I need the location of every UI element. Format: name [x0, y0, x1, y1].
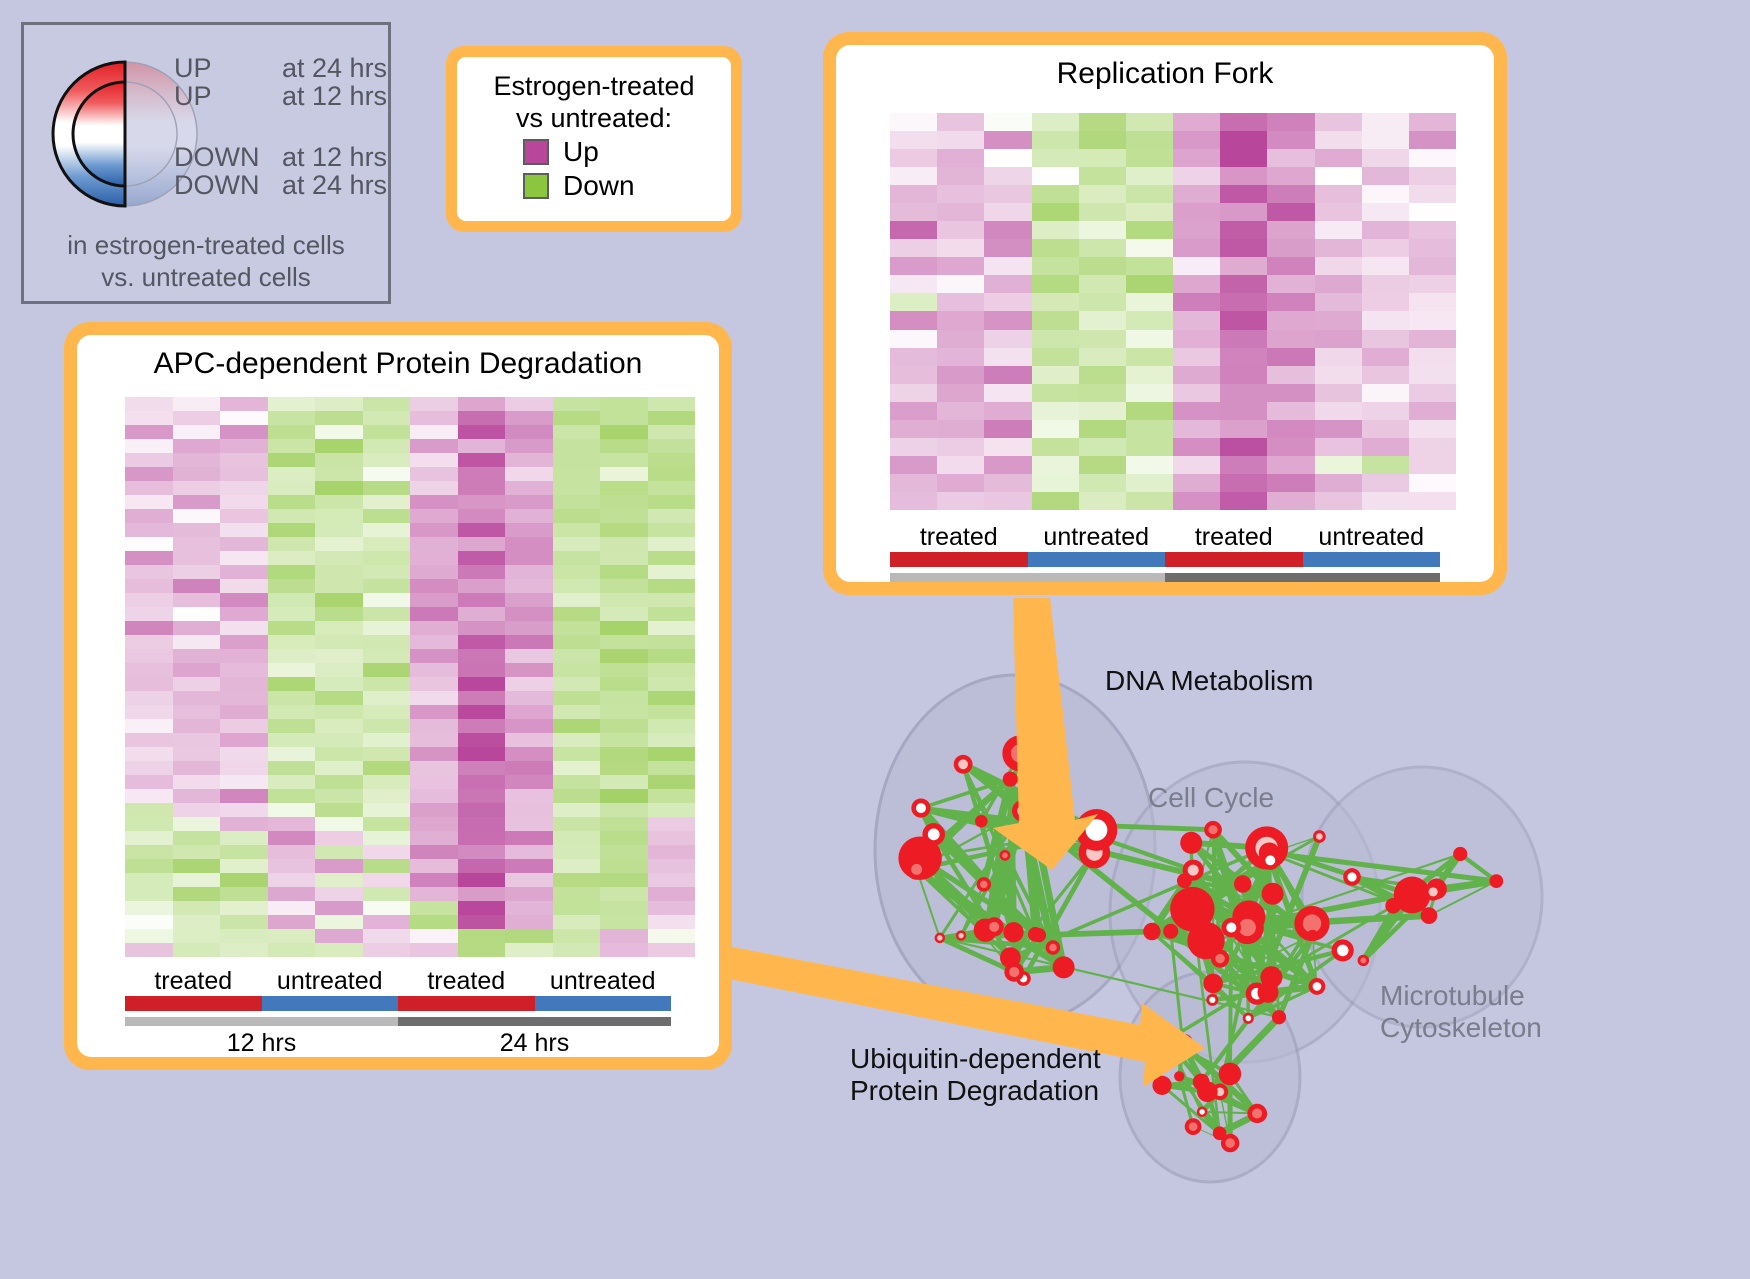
network-node[interactable]	[1185, 1118, 1202, 1135]
heatmap-cell	[173, 481, 221, 495]
heatmap-cell	[315, 411, 363, 425]
network-node[interactable]	[1332, 939, 1354, 961]
heatmap-cell	[505, 691, 553, 705]
heatmap-cell	[458, 705, 506, 719]
heatmap-cell	[363, 831, 411, 845]
heatmap-cell	[125, 607, 173, 621]
heatmap-cell	[600, 607, 648, 621]
heatmap-cell	[1173, 185, 1220, 203]
heatmap-cell	[1126, 348, 1173, 366]
heatmap-cell	[1267, 257, 1314, 275]
heatmap-cell	[410, 663, 458, 677]
heatmap-cell	[648, 859, 696, 873]
heatmap-cell	[1079, 239, 1126, 257]
heatmap-cell	[1032, 293, 1079, 311]
heatmap-cell	[600, 579, 648, 593]
heatmap-cell	[315, 761, 363, 775]
heatmap-cell	[220, 817, 268, 831]
heatmap-cell	[1173, 167, 1220, 185]
heatmap-cell	[600, 901, 648, 915]
heatmap-cell	[553, 607, 601, 621]
heatmap-cell	[648, 803, 696, 817]
heatmap-cell	[553, 649, 601, 663]
heatmap-cell	[268, 677, 316, 691]
figure-canvas: UP at 24 hrs UP at 12 hrs DOWN at 12 hrs…	[0, 0, 1750, 1279]
network-node[interactable]	[1309, 978, 1326, 995]
heatmap-cell	[268, 481, 316, 495]
network-node[interactable]	[1076, 809, 1118, 851]
heatmap-cell	[268, 691, 316, 705]
heatmap-cell	[1032, 275, 1079, 293]
network-node[interactable]	[1489, 874, 1503, 888]
heatmap-cell	[984, 330, 1031, 348]
heatmap-cell	[410, 943, 458, 957]
heatmap-cell	[1315, 348, 1362, 366]
timepoint-bar-12hrs	[125, 1017, 398, 1026]
heatmap-cell	[458, 439, 506, 453]
heatmap-cell	[125, 397, 173, 411]
heatmap-cell	[937, 167, 984, 185]
heatmap-cell	[1173, 474, 1220, 492]
heatmap-cell	[410, 873, 458, 887]
heatmap-cell	[363, 565, 411, 579]
heatmap-cell	[553, 789, 601, 803]
heatmap-cell	[1409, 149, 1456, 167]
heatmap-cell	[1362, 420, 1409, 438]
heatmap-cell	[1032, 492, 1079, 510]
heatmap-cell	[553, 929, 601, 943]
heatmap-cell	[220, 873, 268, 887]
heatmap-cell	[173, 901, 221, 915]
heatmap-cell	[505, 551, 553, 565]
heatmap-cell	[125, 621, 173, 635]
condition-label: untreated	[1303, 523, 1441, 552]
network-node[interactable]	[1003, 772, 1018, 787]
heatmap-cell	[268, 873, 316, 887]
up-down-legend-title: Estrogen-treated vs untreated:	[467, 71, 721, 134]
heatmap-cell	[125, 873, 173, 887]
heatmap-cell	[410, 467, 458, 481]
heatmap-cell	[937, 131, 984, 149]
heatmap-cell	[410, 537, 458, 551]
heatmap-cell	[890, 402, 937, 420]
heatmap-cell	[1362, 239, 1409, 257]
timepoint-colour-bar	[125, 1017, 671, 1026]
timepoint-bar-24hrs	[1165, 573, 1440, 582]
heatmap-cell	[410, 915, 458, 929]
heatmap-cell	[648, 481, 696, 495]
network-node[interactable]	[1261, 851, 1280, 870]
network-node[interactable]	[1183, 860, 1204, 881]
heatmap-cell	[268, 467, 316, 481]
network-node[interactable]	[1204, 821, 1222, 839]
heatmap-cell	[1079, 492, 1126, 510]
heatmap-cell	[1315, 257, 1362, 275]
heatmap-cell	[890, 438, 937, 456]
heatmap-cell	[600, 789, 648, 803]
heatmap-cell	[1079, 456, 1126, 474]
network-node[interactable]	[1040, 718, 1055, 733]
heatmap-cell	[220, 691, 268, 705]
network-node[interactable]	[1053, 956, 1075, 978]
heatmap-cell	[315, 719, 363, 733]
network-node[interactable]	[1028, 927, 1043, 942]
heatmap-cell	[1126, 185, 1173, 203]
network-node[interactable]	[1002, 735, 1038, 771]
heatmap-cell	[1079, 330, 1126, 348]
network-node[interactable]	[1424, 883, 1441, 900]
heatmap-cell	[315, 845, 363, 859]
network-node[interactable]	[1163, 924, 1178, 939]
heatmap-cell	[1362, 257, 1409, 275]
heatmap-cell	[1362, 185, 1409, 203]
heatmap-cell	[1032, 456, 1079, 474]
heatmap-cell	[648, 733, 696, 747]
network-node[interactable]	[1396, 879, 1415, 898]
heatmap-cell	[1126, 167, 1173, 185]
heatmap-cell	[1362, 275, 1409, 293]
network-node[interactable]	[1272, 1010, 1286, 1024]
heatmap-cell	[648, 901, 696, 915]
heatmap-cell	[1173, 149, 1220, 167]
heatmap-cell	[1267, 438, 1314, 456]
network-node[interactable]	[1206, 994, 1218, 1006]
heatmap-cell	[173, 817, 221, 831]
heatmap-cell	[315, 691, 363, 705]
heatmap-cell	[505, 481, 553, 495]
heatmap-cell	[315, 635, 363, 649]
wheel-key-row: UP at 12 hrs	[174, 83, 389, 111]
wheel-key-direction: UP	[174, 55, 282, 83]
heatmap-cell	[220, 789, 268, 803]
heatmap-cell	[984, 311, 1031, 329]
heatmap-cell	[1409, 474, 1456, 492]
network-node[interactable]	[1234, 875, 1251, 892]
heatmap-cell	[268, 453, 316, 467]
heatmap-cell	[1173, 203, 1220, 221]
heatmap-cell	[125, 509, 173, 523]
heatmap-cell	[125, 901, 173, 915]
heatmap-cell	[268, 663, 316, 677]
heatmap-cell	[1315, 275, 1362, 293]
network-node[interactable]	[1003, 922, 1023, 942]
network-node[interactable]	[954, 755, 973, 774]
down-swatch-icon	[523, 173, 549, 199]
heatmap-cell	[268, 831, 316, 845]
heatmap-cell	[1032, 474, 1079, 492]
network-node[interactable]	[911, 798, 930, 817]
heatmap-cell	[173, 929, 221, 943]
heatmap-cell	[1362, 167, 1409, 185]
condition-label: treated	[398, 967, 535, 996]
heatmap-cell	[1315, 149, 1362, 167]
network-node[interactable]	[1046, 940, 1060, 954]
heatmap-cell	[1220, 330, 1267, 348]
heatmap-cell	[220, 761, 268, 775]
heatmap-cell	[1032, 311, 1079, 329]
heatmap-cell	[648, 579, 696, 593]
heatmap-cell	[315, 453, 363, 467]
network-node[interactable]	[1158, 1030, 1177, 1049]
heatmap-cell	[410, 677, 458, 691]
heatmap-cell	[505, 621, 553, 635]
heatmap-cell	[268, 901, 316, 915]
heatmap-cell	[648, 649, 696, 663]
heatmap-cell	[648, 873, 696, 887]
heatmap-cell	[410, 901, 458, 915]
network-node[interactable]	[1180, 832, 1202, 854]
heatmap-cell	[1220, 185, 1267, 203]
network-node[interactable]	[1004, 962, 1024, 982]
network-node[interactable]	[1211, 949, 1229, 967]
heatmap-cell	[1079, 167, 1126, 185]
heatmap-cell	[984, 438, 1031, 456]
heatmap-cell	[553, 761, 601, 775]
network-node[interactable]	[1012, 800, 1034, 822]
heatmap-cell	[220, 831, 268, 845]
heatmap-cell	[648, 621, 696, 635]
heatmap-cell	[173, 523, 221, 537]
heatmap-cell	[173, 593, 221, 607]
heatmap-cell	[410, 691, 458, 705]
network-node[interactable]	[1143, 923, 1160, 940]
heatmap-cell	[268, 425, 316, 439]
heatmap-cell	[553, 845, 601, 859]
heatmap-cell	[505, 831, 553, 845]
heatmap-cell	[600, 775, 648, 789]
heatmap-cell	[1079, 257, 1126, 275]
network-node[interactable]	[975, 815, 988, 828]
heatmap-cell	[1126, 203, 1173, 221]
heatmap-cell	[220, 803, 268, 817]
heatmap-cell	[363, 467, 411, 481]
heatmap-cell	[1409, 366, 1456, 384]
heatmap-cell	[553, 747, 601, 761]
heatmap-cell	[125, 481, 173, 495]
heatmap-cell	[173, 677, 221, 691]
heatmap-cell	[553, 817, 601, 831]
heatmap-cell	[125, 537, 173, 551]
heatmap-cell	[553, 719, 601, 733]
condition-label: treated	[890, 523, 1028, 552]
heatmap-cell	[984, 348, 1031, 366]
heatmap-cell	[458, 397, 506, 411]
heatmap-cell	[600, 873, 648, 887]
heatmap-cell	[1032, 420, 1079, 438]
heatmap-cell	[363, 635, 411, 649]
heatmap-cell	[1173, 311, 1220, 329]
network-node[interactable]	[1385, 898, 1401, 914]
heatmap-cell	[1409, 420, 1456, 438]
heatmap-cell	[315, 663, 363, 677]
heatmap-cell	[268, 859, 316, 873]
heatmap-cell	[1126, 131, 1173, 149]
heatmap-cell	[1126, 311, 1173, 329]
heatmap-cell	[937, 203, 984, 221]
heatmap-cell	[600, 467, 648, 481]
heatmap-cell	[1267, 330, 1314, 348]
network-node[interactable]	[1257, 982, 1278, 1003]
heatmap-cell	[220, 705, 268, 719]
heatmap-cell	[315, 747, 363, 761]
heatmap-cell	[1315, 456, 1362, 474]
network-node[interactable]	[1247, 1104, 1266, 1123]
heatmap-cell	[1267, 456, 1314, 474]
heatmap-cell	[125, 453, 173, 467]
network-node[interactable]	[1358, 955, 1369, 966]
heatmap-cell	[553, 411, 601, 425]
heatmap-cell	[505, 775, 553, 789]
heatmap-cell	[1267, 221, 1314, 239]
network-node[interactable]	[1262, 883, 1284, 905]
panel-replication-fork-title: Replication Fork	[836, 45, 1494, 91]
heatmap-cell	[458, 733, 506, 747]
network-node[interactable]	[1453, 847, 1467, 861]
network-node[interactable]	[1219, 1063, 1242, 1086]
heatmap-cell	[1032, 149, 1079, 167]
heatmap-cell	[125, 733, 173, 747]
heatmap-cell	[984, 221, 1031, 239]
up-label: Up	[563, 136, 599, 168]
heatmap-cell	[458, 845, 506, 859]
heatmap-cell	[648, 831, 696, 845]
heatmap-cell	[937, 492, 984, 510]
heatmap-cell	[268, 565, 316, 579]
heatmap-cell	[315, 733, 363, 747]
heatmap-cell	[648, 537, 696, 551]
heatmap-cell	[268, 495, 316, 509]
heatmap-cell	[315, 495, 363, 509]
heatmap-cell	[173, 747, 221, 761]
heatmap-cell	[458, 495, 506, 509]
heatmap-cell	[505, 425, 553, 439]
heatmap-cell	[268, 509, 316, 523]
heatmap-cell	[505, 733, 553, 747]
network-node[interactable]	[1343, 868, 1361, 886]
network-node[interactable]	[1152, 1076, 1171, 1095]
heatmap-cell	[363, 523, 411, 537]
network-node[interactable]	[906, 859, 927, 880]
heatmap-cell	[173, 411, 221, 425]
heatmap-cell	[363, 803, 411, 817]
heatmap-cell	[1079, 420, 1126, 438]
heatmap-cell	[1126, 113, 1173, 131]
heatmap-cell	[458, 817, 506, 831]
heatmap-cell	[505, 789, 553, 803]
heatmap-cell	[600, 411, 648, 425]
heatmap-cell	[1267, 474, 1314, 492]
heatmap-cell	[1079, 185, 1126, 203]
network-node[interactable]	[1174, 1071, 1184, 1081]
network-node[interactable]	[935, 933, 945, 943]
heatmap-cell	[1315, 366, 1362, 384]
network-node[interactable]	[985, 917, 1004, 936]
heatmap-cell	[505, 579, 553, 593]
heatmap-cell	[1315, 311, 1362, 329]
network-node[interactable]	[1243, 1013, 1254, 1024]
heatmap-cell	[648, 747, 696, 761]
heatmap-cell	[363, 397, 411, 411]
heatmap-cell	[553, 537, 601, 551]
network-node[interactable]	[977, 877, 991, 891]
heatmap-cell	[410, 607, 458, 621]
heatmap-cell	[890, 185, 937, 203]
heatmap-cell	[600, 691, 648, 705]
heatmap-cell	[125, 789, 173, 803]
heatmap-cell	[363, 537, 411, 551]
heatmap-cell	[173, 789, 221, 803]
heatmap-cell	[315, 551, 363, 565]
heatmap-cell	[1409, 167, 1456, 185]
network-node[interactable]	[1197, 1107, 1208, 1118]
heatmap-cell	[363, 817, 411, 831]
heatmap-cell	[173, 873, 221, 887]
heatmap-cell	[1173, 293, 1220, 311]
heatmap-cell	[125, 551, 173, 565]
network-node[interactable]	[1000, 850, 1011, 861]
up-down-legend-card: Estrogen-treated vs untreated: Up Down	[446, 46, 742, 232]
network-node[interactable]	[1213, 1126, 1227, 1140]
condition-labels: treated untreated treated untreated	[890, 523, 1440, 552]
heatmap-cell	[890, 131, 937, 149]
heatmap-cell	[268, 803, 316, 817]
network-node[interactable]	[1197, 1081, 1218, 1102]
heatmap-cell	[458, 901, 506, 915]
network-node[interactable]	[1203, 974, 1223, 994]
heatmap-cell	[1409, 438, 1456, 456]
network-node[interactable]	[922, 823, 945, 846]
heatmap-cell	[1220, 311, 1267, 329]
heatmap-cell	[890, 203, 937, 221]
heatmap-cell	[458, 747, 506, 761]
network-node[interactable]	[1313, 830, 1326, 843]
heatmap-cell	[937, 293, 984, 311]
heatmap-cell	[1220, 438, 1267, 456]
heatmap-cell	[458, 677, 506, 691]
network-node[interactable]	[1421, 907, 1438, 924]
heatmap-cell	[458, 467, 506, 481]
heatmap-cell	[125, 523, 173, 537]
heatmap-cell	[1315, 330, 1362, 348]
network-node[interactable]	[1180, 887, 1203, 910]
heatmap-cell	[1409, 330, 1456, 348]
heatmap-cell	[315, 579, 363, 593]
network-node[interactable]	[1307, 930, 1318, 941]
heatmap-cell	[1220, 492, 1267, 510]
heatmap-cell	[220, 565, 268, 579]
heatmap-cell	[410, 817, 458, 831]
heatmap-cell	[937, 384, 984, 402]
heatmap-cell	[1032, 185, 1079, 203]
heatmap-cell	[1409, 185, 1456, 203]
network-node[interactable]	[1222, 918, 1241, 937]
heatmap-cell	[458, 719, 506, 733]
heatmap-cell	[220, 845, 268, 859]
heatmap-cell	[458, 929, 506, 943]
heatmap-cell	[268, 523, 316, 537]
heatmap-cell	[173, 775, 221, 789]
wheel-key-time: at 12 hrs	[282, 144, 387, 172]
heatmap-cell	[984, 384, 1031, 402]
heatmap-cell	[220, 523, 268, 537]
heatmap-cell	[220, 481, 268, 495]
heatmap-cell	[220, 551, 268, 565]
heatmap-cell	[890, 311, 937, 329]
heatmap-cell	[505, 761, 553, 775]
heatmap-cell	[937, 257, 984, 275]
network-node[interactable]	[956, 930, 966, 940]
heatmap-cell	[1126, 293, 1173, 311]
